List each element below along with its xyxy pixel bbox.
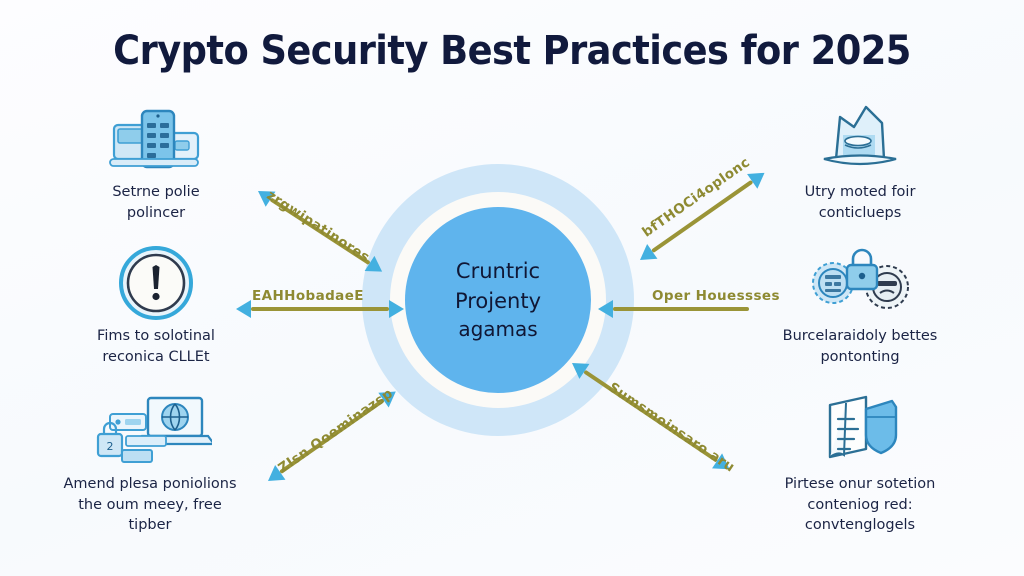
document-shield-icon [762,388,958,474]
label-line: Amend plesa poniolions [58,474,242,495]
hub-line-1: Cruntric [456,258,540,284]
gears-padlock-icon [762,240,958,326]
node-middle-right: Burcelaraidoly bettes pontonting [762,240,958,367]
laptop-network-security-icon: 2 [52,388,248,474]
connector-middle-right-label: Oper Houessses [652,288,780,304]
hub-line-2: Projenty [455,288,541,314]
label-line: Utry moted foir [768,182,952,203]
label-line: Fims to solotinal [64,326,248,347]
label-line: Burcelaraidoly bettes [768,326,952,347]
node-bottom-right: Pirtese onur sotetion conteniog red: con… [762,388,958,536]
node-top-right-label: Utry moted foir conticlueps [762,182,958,223]
label-line: conteniog red: [768,495,952,516]
node-bottom-left-label: Amend plesa poniolions the oum meey, fre… [52,474,248,536]
connector-top-left-label: zrgwipatinores [264,187,373,265]
label-line: tipber [58,515,242,536]
connector-top-right-label: bfTHOCi4oplonc [639,154,753,240]
label-line: reconica CLLEt [64,347,248,368]
label-line: Setrne polie [64,182,248,203]
hardware-wallet-device-icon [58,96,254,182]
iceberg-cold-storage-icon [762,96,958,182]
label-line: conticlueps [768,203,952,224]
label-line: polincer [64,203,248,224]
label-line: the oum meey, free [58,495,242,516]
node-middle-left: Fims to solotinal reconica CLLEt [58,240,254,367]
svg-text:2: 2 [107,440,114,453]
node-top-right: Utry moted foir conticlueps [762,96,958,223]
infographic-canvas: Crypto Security Best Practices for 2025 … [0,0,1024,576]
node-top-left-label: Setrne polie polincer [58,182,254,223]
alert-exclamation-circle-icon [58,240,254,326]
label-line: Pirtese onur sotetion [768,474,952,495]
hub-line-3: agamas [458,317,537,342]
label-line: convtenglogels [768,515,952,536]
connector-bottom-left-label: ZIsn Qoeminazsp [275,385,396,476]
connector-bottom-right-label: Sumsmoinsaro aru [606,379,738,475]
node-middle-right-label: Burcelaraidoly bettes pontonting [762,326,958,367]
node-middle-left-label: Fims to solotinal reconica CLLEt [58,326,254,367]
node-bottom-left: 2 Amend plesa poniolions the oum meey, f… [52,388,248,536]
connector-middle-left-label: EAHHobadaeE [252,288,364,304]
arrowhead-left-icon [635,244,658,267]
label-line: pontonting [768,347,952,368]
hub-center: Cruntric Projenty agamas [405,207,591,393]
node-top-left: Setrne polie polincer [58,96,254,223]
node-bottom-right-label: Pirtese onur sotetion conteniog red: con… [762,474,958,536]
page-title: Crypto Security Best Practices for 2025 [41,28,983,74]
